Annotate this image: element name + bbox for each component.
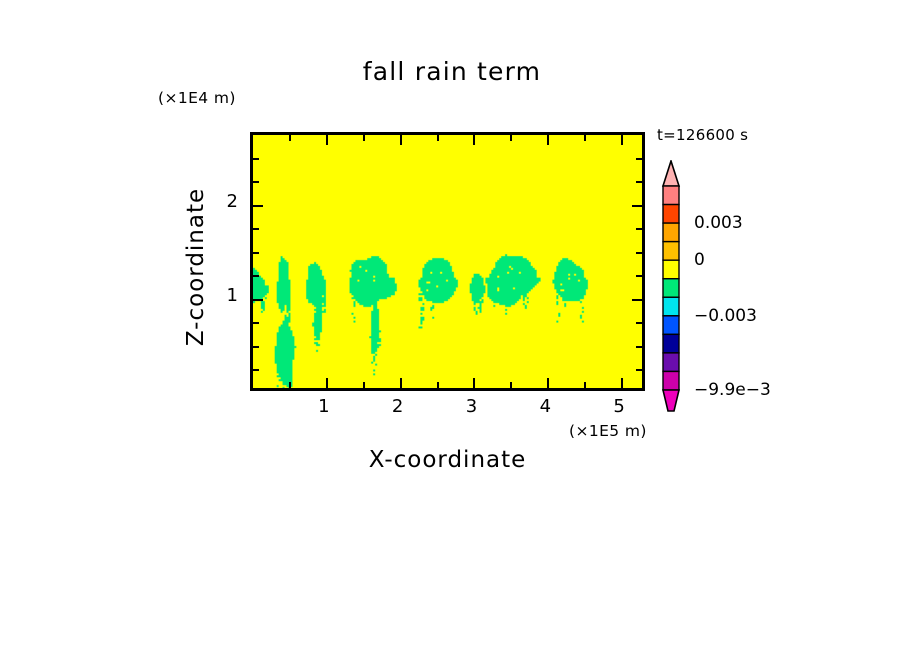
x-tick-label: 4 bbox=[525, 396, 565, 417]
y-tick-label: 2 bbox=[212, 191, 238, 212]
x-tick bbox=[473, 135, 475, 145]
y-tick bbox=[636, 252, 642, 254]
y-tick bbox=[253, 346, 259, 348]
colorbar-tick-label: −9.9e−3 bbox=[694, 380, 771, 400]
y-tick bbox=[253, 228, 259, 230]
x-axis-unit-label: (×1E5 m) bbox=[569, 422, 647, 440]
x-tick bbox=[510, 382, 512, 388]
x-tick bbox=[547, 135, 549, 145]
x-tick bbox=[400, 135, 402, 145]
y-tick bbox=[253, 322, 259, 324]
y-tick bbox=[636, 275, 642, 277]
x-tick bbox=[621, 135, 623, 145]
x-tick bbox=[584, 135, 586, 141]
y-tick-label: 1 bbox=[212, 285, 238, 306]
x-tick bbox=[363, 135, 365, 141]
x-tick bbox=[326, 378, 328, 388]
y-tick bbox=[632, 299, 642, 301]
timestamp-label: t=126600 s bbox=[657, 126, 748, 144]
x-tick-label: 1 bbox=[304, 396, 344, 417]
x-tick bbox=[289, 382, 291, 388]
x-tick bbox=[547, 378, 549, 388]
colorbar-tick-label: −0.003 bbox=[694, 306, 757, 326]
y-axis-title: Z-coordinate bbox=[183, 67, 209, 467]
x-tick bbox=[289, 135, 291, 141]
x-tick bbox=[437, 382, 439, 388]
x-tick-label: 3 bbox=[451, 396, 491, 417]
x-tick bbox=[400, 378, 402, 388]
x-tick bbox=[584, 382, 586, 388]
colorbar-tick-label: 0.003 bbox=[694, 213, 743, 233]
y-tick bbox=[253, 205, 263, 207]
colorbar bbox=[658, 160, 686, 412]
y-tick bbox=[253, 369, 259, 371]
x-tick-label: 2 bbox=[378, 396, 418, 417]
x-tick bbox=[473, 378, 475, 388]
x-tick bbox=[437, 135, 439, 141]
y-tick bbox=[253, 158, 259, 160]
y-tick bbox=[253, 275, 259, 277]
x-tick bbox=[510, 135, 512, 141]
y-tick bbox=[632, 205, 642, 207]
x-tick bbox=[363, 382, 365, 388]
y-tick bbox=[636, 369, 642, 371]
y-tick bbox=[253, 181, 259, 183]
field-heatmap bbox=[253, 135, 642, 388]
x-tick bbox=[326, 135, 328, 145]
colorbar-tick-label: 0 bbox=[694, 250, 705, 270]
y-tick bbox=[636, 322, 642, 324]
y-tick bbox=[253, 299, 263, 301]
x-tick-label: 5 bbox=[599, 396, 639, 417]
x-tick bbox=[621, 378, 623, 388]
plot-area bbox=[250, 132, 645, 391]
y-tick bbox=[253, 252, 259, 254]
y-tick bbox=[636, 181, 642, 183]
y-tick bbox=[636, 228, 642, 230]
figure-canvas: fall rain term (×1E4 m) t=126600 s 12345… bbox=[0, 0, 904, 654]
x-axis-title: X-coordinate bbox=[250, 447, 645, 473]
y-tick bbox=[636, 158, 642, 160]
y-tick bbox=[636, 346, 642, 348]
page-title: fall rain term bbox=[0, 57, 904, 86]
